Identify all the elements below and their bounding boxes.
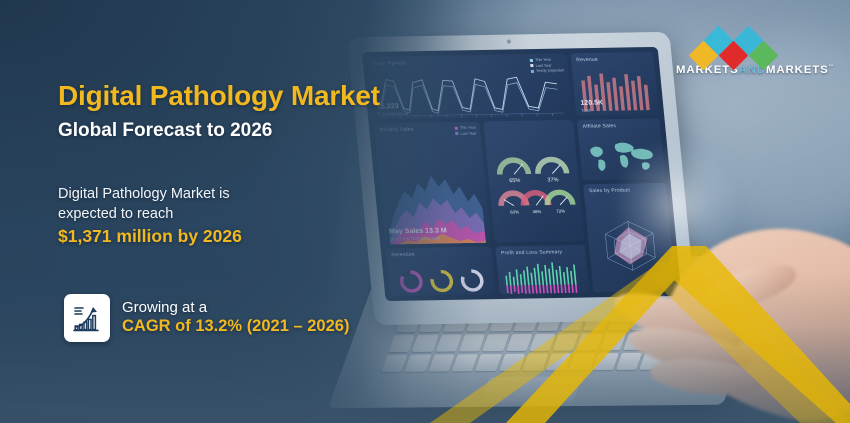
cagr-line-1: Growing at a (122, 300, 349, 317)
page-title: Digital Pathology Market (58, 80, 380, 112)
market-value-statement: $1,371 million by 2026 (58, 226, 242, 247)
lead-text: Digital Pathology Market is expected to … (58, 184, 230, 224)
lead-line-2: expected to reach (58, 204, 230, 224)
trademark-symbol: ™ (829, 64, 834, 70)
lead-line-1: Digital Pathology Market is (58, 184, 230, 204)
page-subtitle: Global Forecast to 2026 (58, 120, 272, 142)
growth-bar-chart-icon (64, 294, 110, 342)
marketing-banner: Daily Signups This Year Last Year Yearly… (0, 0, 850, 423)
growth-chart-glyph (71, 302, 103, 334)
logo-word-markets-2: MARKETS (766, 64, 829, 76)
logo-wordmark: MARKETSANDMARKETS™ (676, 64, 816, 76)
cagr-line-2: CAGR of 13.2% (2021 – 2026) (122, 317, 349, 335)
brand-logo[interactable]: MARKETSANDMARKETS™ (676, 28, 816, 76)
cagr-block: Growing at a CAGR of 13.2% (2021 – 2026) (64, 294, 349, 342)
cagr-text: Growing at a CAGR of 13.2% (2021 – 2026) (122, 300, 349, 335)
logo-diamonds (676, 28, 816, 62)
